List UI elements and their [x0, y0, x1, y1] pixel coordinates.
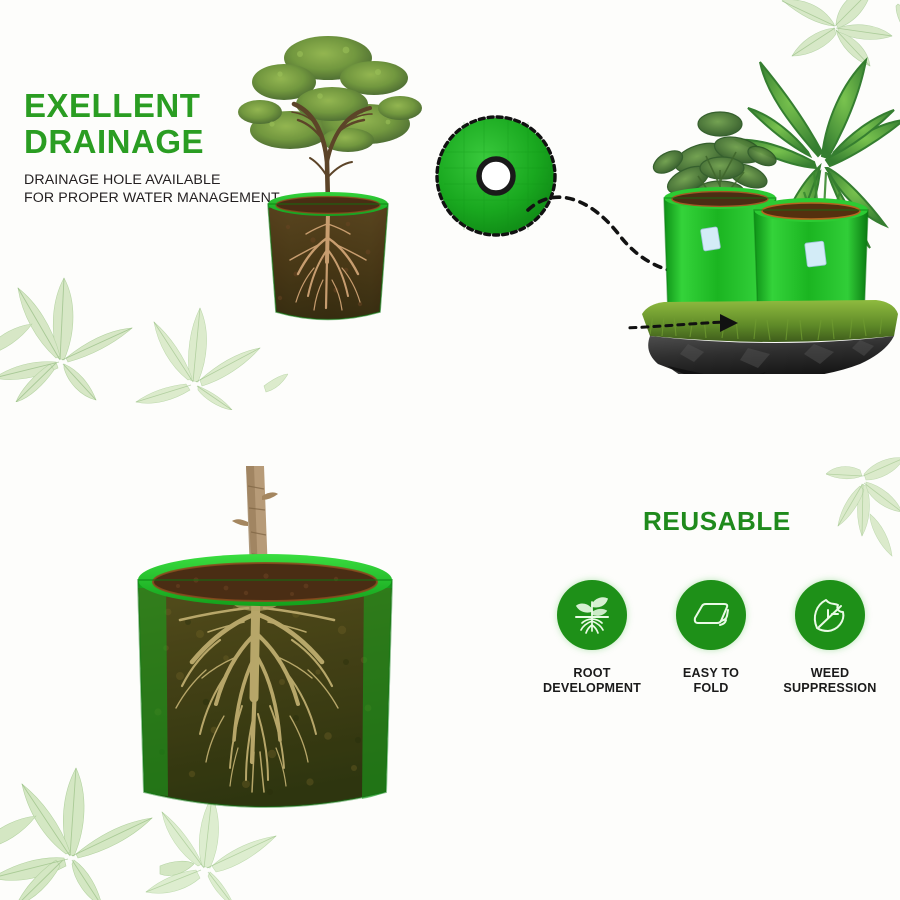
feature-icon-circle: [676, 580, 746, 650]
headline-line-2: DRAINAGE: [24, 124, 354, 160]
leaf-sprig-left-mid: [0, 272, 166, 402]
dashed-arrow-connector: [524, 188, 724, 288]
leaf-sprig-bottom-left: [0, 756, 194, 900]
cutaway-grow-bag-with-roots: [96, 462, 436, 854]
feature-easy-to-fold[interactable]: EASY TO FOLD: [655, 580, 767, 696]
drainage-subtitle-line-2: FOR PROPER WATER MANAGEMENT.: [24, 190, 354, 208]
feature-label-line-1: WEED: [783, 666, 876, 681]
headline-line-1: EXELLENT: [24, 87, 200, 124]
leaf-sprig-right-mid: [826, 452, 900, 562]
woody-stem: [232, 466, 278, 574]
feature-label: WEED SUPPRESSION: [783, 666, 876, 696]
drainage-hole-closeup: [432, 112, 560, 240]
infographic-canvas: EXELLENT DRAINAGE DRAINAGE HOLE AVAILABL…: [0, 0, 900, 900]
feature-list: ROOT DEVELOPMENT EASY TO FOLD: [536, 580, 886, 696]
leaf-sprig-top-right: [760, 0, 900, 104]
feature-label: EASY TO FOLD: [683, 666, 739, 696]
feature-weed-suppression[interactable]: WEED SUPPRESSION: [774, 580, 886, 696]
seedling-roots-icon: [570, 593, 614, 637]
leaf-sprig-bottom-left-2: [140, 788, 290, 900]
drainage-subtitle: DRAINAGE HOLE AVAILABLE FOR PROPER WATER…: [24, 172, 354, 207]
small-grow-bag: [664, 187, 776, 314]
feature-label-line-2: DEVELOPMENT: [543, 681, 641, 696]
folded-fabric-icon: [688, 592, 734, 638]
feature-icon-circle: [795, 580, 865, 650]
leaf-slash-icon: [808, 593, 852, 637]
large-grow-bag: [754, 198, 868, 318]
feature-icon-circle: [557, 580, 627, 650]
feature-label-line-1: ROOT: [543, 666, 641, 681]
leaf-sprig-left-mid-2: [128, 300, 288, 410]
feature-label-line-2: SUPPRESSION: [783, 681, 876, 696]
feature-root-development[interactable]: ROOT DEVELOPMENT: [536, 580, 648, 696]
feature-label-line-2: FOLD: [683, 681, 739, 696]
small-plant-foliage: [650, 112, 779, 236]
drainage-headline-block: EXELLENT DRAINAGE DRAINAGE HOLE AVAILABL…: [24, 88, 354, 207]
large-plant-foliage: [736, 60, 900, 254]
feature-label-line-1: EASY TO: [683, 666, 739, 681]
page-title: EXELLENT DRAINAGE: [24, 88, 354, 160]
drainage-subtitle-line-1: DRAINAGE HOLE AVAILABLE: [24, 172, 354, 190]
connector-on-grass: [628, 314, 738, 332]
floating-island-with-grow-bags: [628, 52, 900, 374]
feature-label: ROOT DEVELOPMENT: [543, 666, 641, 696]
reusable-title: REUSABLE: [643, 506, 791, 537]
